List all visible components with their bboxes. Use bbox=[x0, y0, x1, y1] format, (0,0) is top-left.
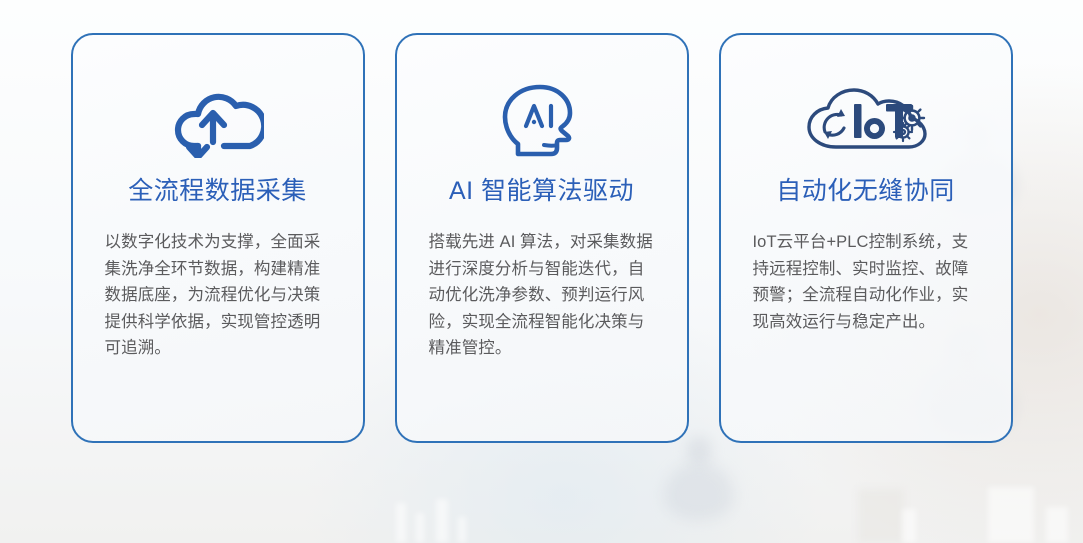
iot-cloud-gear-icon bbox=[800, 83, 932, 159]
feature-card-data-collection[interactable]: 全流程数据采集 以数字化技术为支撑，全面采集洗净全环节数据，构建精准数据底座，为… bbox=[71, 33, 365, 443]
feature-card-ai-algorithm[interactable]: AI 智能算法驱动 搭载先进 AI 算法，对采集数据进行深度分析与智能迭代，自动… bbox=[395, 33, 689, 443]
card-title: 自动化无缝协同 bbox=[776, 175, 955, 207]
feature-cards-section: 全流程数据采集 以数字化技术为支撑，全面采集洗净全环节数据，构建精准数据底座，为… bbox=[0, 0, 1083, 543]
feature-card-automation[interactable]: 自动化无缝协同 IoT云平台+PLC控制系统，支持远程控制、实时监控、故障预警；… bbox=[719, 33, 1013, 443]
card-description: 以数字化技术为支撑，全面采集洗净全环节数据，构建精准数据底座，为流程优化与决策提… bbox=[97, 229, 339, 362]
cloud-upload-download-icon bbox=[172, 83, 264, 159]
card-title: 全流程数据采集 bbox=[128, 175, 307, 207]
card-description: IoT云平台+PLC控制系统，支持远程控制、实时监控、故障预警；全流程自动化作业… bbox=[745, 229, 987, 335]
card-title: AI 智能算法驱动 bbox=[449, 175, 634, 207]
card-description: 搭载先进 AI 算法，对采集数据进行深度分析与智能迭代，自动优化洗净参数、预判运… bbox=[421, 229, 663, 362]
ai-head-icon bbox=[500, 83, 584, 159]
